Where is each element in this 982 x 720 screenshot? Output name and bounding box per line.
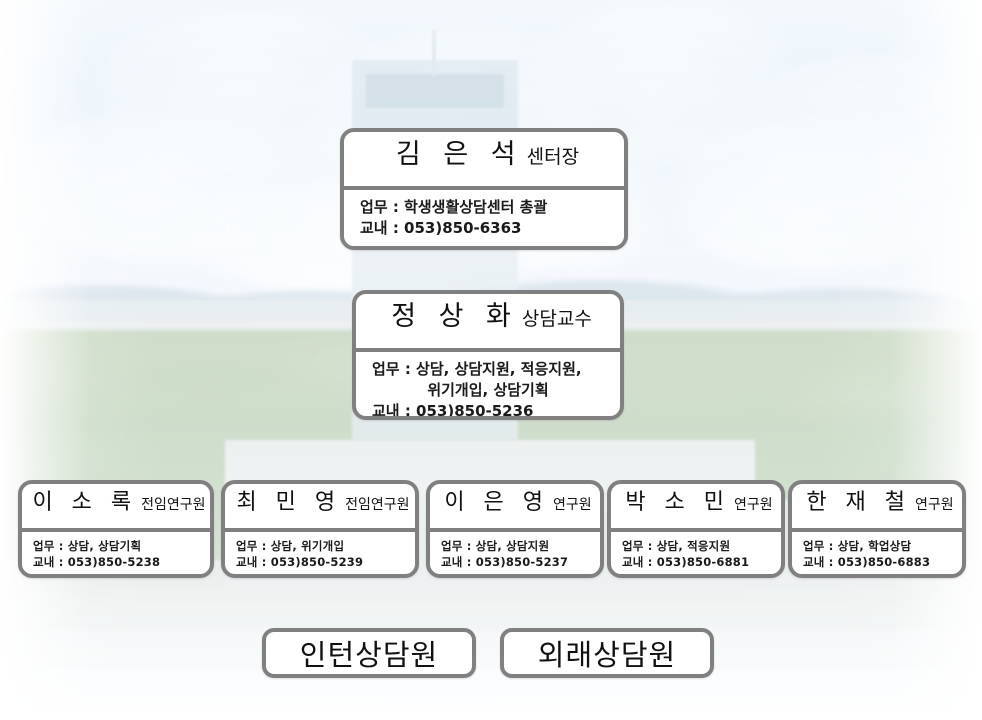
staff-name: 이 소 록 (26, 484, 137, 516)
staff-phone: 교내 : 053)850-5238 (22, 554, 210, 570)
staff-duty: 업무 : 상담, 적응지원 (611, 538, 781, 554)
director-duty: 업무 : 학생생활상담센터 총괄 (344, 196, 624, 217)
org-node-staff[interactable]: 박 소 민 연구원 업무 : 상담, 적응지원 교내 : 053)850-688… (607, 480, 785, 578)
staff-phone: 교내 : 053)850-6881 (611, 554, 781, 570)
professor-title: 상담교수 (522, 304, 592, 331)
staff-details: 업무 : 상담, 상담기획 교내 : 053)850-5238 (22, 532, 210, 574)
staff-duty: 업무 : 상담, 학업상담 (792, 538, 962, 554)
staff-phone: 교내 : 053)850-6883 (792, 554, 962, 570)
staff-title: 연구원 (915, 494, 954, 514)
org-chart-canvas: 김 은 석 센터장 업무 : 학생생활상담센터 총괄 교내 : 053)850-… (0, 0, 982, 720)
intern-counselor-label: 인턴상담원 (300, 632, 438, 674)
staff-duty: 업무 : 상담, 위기개입 (225, 538, 415, 554)
director-name-row: 김 은 석 센터장 (344, 132, 624, 186)
professor-phone: 교내 : 053)850-5236 (356, 400, 620, 420)
staff-duty: 업무 : 상담, 상담기획 (22, 538, 210, 554)
staff-details: 업무 : 상담, 상담지원 교내 : 053)850-5237 (430, 532, 600, 574)
staff-name: 최 민 영 (230, 484, 341, 516)
professor-details: 업무 : 상담, 상담지원, 적응지원, 위기개입, 상담기획 교내 : 053… (356, 352, 620, 420)
staff-title: 전임연구원 (345, 494, 409, 514)
org-node-staff[interactable]: 이 소 록 전임연구원 업무 : 상담, 상담기획 교내 : 053)850-5… (18, 480, 214, 578)
staff-title: 연구원 (553, 494, 592, 514)
staff-name-row: 박 소 민 연구원 (611, 484, 781, 528)
staff-name-row: 이 소 록 전임연구원 (22, 484, 210, 528)
professor-duty-line-2: 위기개입, 상담기획 (356, 379, 620, 400)
org-node-staff[interactable]: 이 은 영 연구원 업무 : 상담, 상담지원 교내 : 053)850-523… (426, 480, 604, 578)
director-details: 업무 : 학생생활상담센터 총괄 교내 : 053)850-6363 (344, 190, 624, 242)
staff-duty: 업무 : 상담, 상담지원 (430, 538, 600, 554)
staff-name-row: 최 민 영 전임연구원 (225, 484, 415, 528)
staff-name: 이 은 영 (438, 484, 549, 516)
staff-name-row: 한 재 철 연구원 (792, 484, 962, 528)
director-name: 김 은 석 (389, 132, 523, 171)
staff-phone: 교내 : 053)850-5237 (430, 554, 600, 570)
professor-name-row: 정 상 화 상담교수 (356, 294, 620, 348)
professor-duty-line-1: 업무 : 상담, 상담지원, 적응지원, (356, 358, 620, 379)
org-node-intern-counselor[interactable]: 인턴상담원 (262, 628, 476, 678)
org-node-counseling-professor[interactable]: 정 상 화 상담교수 업무 : 상담, 상담지원, 적응지원, 위기개입, 상담… (352, 290, 624, 420)
org-node-staff[interactable]: 한 재 철 연구원 업무 : 상담, 학업상담 교내 : 053)850-688… (788, 480, 966, 578)
staff-title: 전임연구원 (141, 494, 205, 514)
staff-name: 한 재 철 (800, 484, 911, 516)
staff-name-row: 이 은 영 연구원 (430, 484, 600, 528)
director-title: 센터장 (527, 142, 579, 169)
director-phone: 교내 : 053)850-6363 (344, 217, 624, 238)
staff-phone: 교내 : 053)850-5239 (225, 554, 415, 570)
external-counselor-label: 외래상담원 (538, 632, 676, 674)
staff-details: 업무 : 상담, 위기개입 교내 : 053)850-5239 (225, 532, 415, 574)
staff-name: 박 소 민 (619, 484, 730, 516)
org-node-external-counselor[interactable]: 외래상담원 (500, 628, 714, 678)
org-node-staff[interactable]: 최 민 영 전임연구원 업무 : 상담, 위기개입 교내 : 053)850-5… (221, 480, 419, 578)
staff-title: 연구원 (734, 494, 773, 514)
org-node-director[interactable]: 김 은 석 센터장 업무 : 학생생활상담센터 총괄 교내 : 053)850-… (340, 128, 628, 250)
professor-name: 정 상 화 (384, 294, 518, 333)
staff-details: 업무 : 상담, 학업상담 교내 : 053)850-6883 (792, 532, 962, 574)
staff-details: 업무 : 상담, 적응지원 교내 : 053)850-6881 (611, 532, 781, 574)
